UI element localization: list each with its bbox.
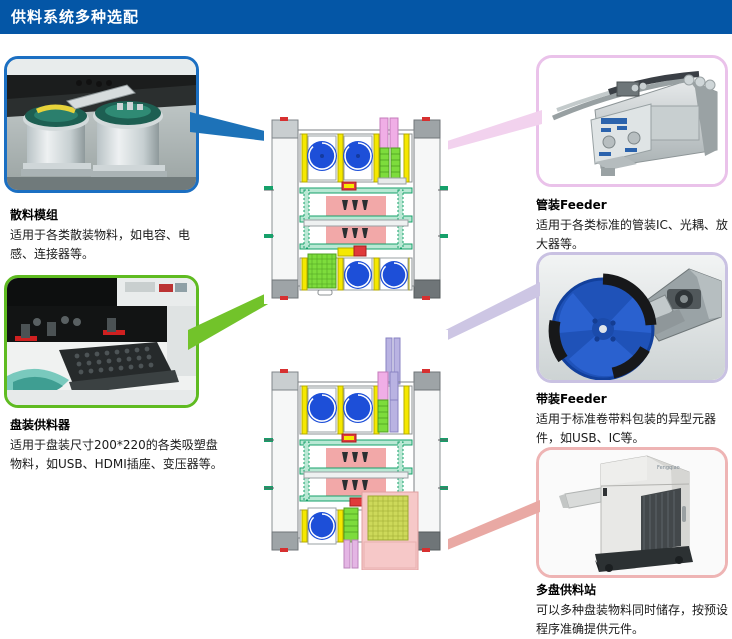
page-title: 供料系统多种选配: [11, 7, 139, 27]
photo-tray-feeder: [4, 275, 199, 408]
machine-top-view-upper: [264, 112, 448, 304]
page-header: 供料系统多种选配: [0, 0, 732, 34]
caption-body-bulk-module: 适用于各类散装物料，如电容、电感、连接器等。: [10, 226, 190, 264]
photo-multi-tray-station: Fengqiao: [536, 447, 728, 578]
photo-bulk-module: [4, 56, 199, 193]
caption-title-tube-feeder: 管装Feeder: [536, 198, 607, 212]
caption-title-bulk-module: 散料模组: [10, 208, 58, 222]
connector-tube-feeder: [432, 110, 542, 158]
photo-tape-feeder: [536, 252, 728, 383]
machine-top-view-lower: [264, 330, 448, 570]
caption-body-multi-tray-station: 可以多种盘装物料同时储存，按预设程序准确提供元件。: [536, 601, 732, 639]
caption-title-multi-tray-station: 多盘供料站: [536, 583, 596, 597]
caption-body-tube-feeder: 适用于各类标准的管装IC、光耦、放大器等。: [536, 216, 732, 254]
caption-body-tape-feeder: 适用于标准卷带料包装的异型元器件，如USB、IC等。: [536, 410, 732, 448]
caption-title-tape-feeder: 带装Feeder: [536, 392, 607, 406]
caption-title-tray-feeder: 盘装供料器: [10, 418, 70, 432]
svg-text:Fengqiao: Fengqiao: [657, 465, 680, 471]
caption-body-tray-feeder: 适用于盘装尺寸200*220的各类吸塑盘物料，如USB、HDMI插座、变压器等。: [10, 436, 225, 474]
photo-tube-feeder: [536, 55, 728, 187]
